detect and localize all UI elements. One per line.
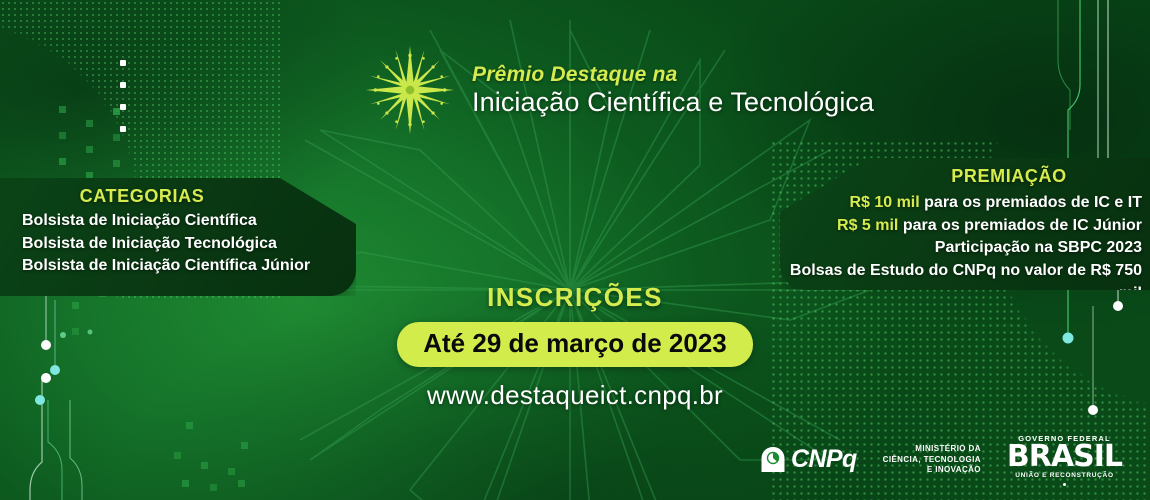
- ministry-line-3: E INOVAÇÃO: [883, 465, 981, 476]
- list-item: Bolsista de Iniciação Científica: [22, 210, 356, 233]
- award-description: para os premiados de IC Júnior: [898, 217, 1142, 234]
- deadline-badge: Até 29 de março de 2023: [397, 322, 753, 367]
- award-description: Participação na SBPC 2023: [935, 239, 1142, 256]
- award-amount: R$ 10 mil: [849, 194, 919, 211]
- website-url[interactable]: www.destaqueict.cnpq.br: [0, 380, 1150, 411]
- banner-header: Prêmio Destaque na Iniciação Científica …: [362, 42, 874, 138]
- list-item: R$ 5 mil para os premiados de IC Júnior: [780, 215, 1142, 238]
- list-item: Bolsista de Iniciação Tecnológica: [22, 233, 356, 256]
- government-logo: GOVERNO FEDERAL BRASIL UNIÃO E RECONSTRU…: [1007, 434, 1122, 486]
- cnpq-wordmark: CNPq: [791, 445, 857, 474]
- list-item: R$ 10 mil para os premiados de IC e IT: [780, 192, 1142, 215]
- footer-logos: CNPq MINISTÉRIO DA CIÊNCIA, TECNOLOGIA E…: [758, 434, 1122, 486]
- government-wordmark: BRASIL: [1007, 443, 1122, 471]
- cnpq-arch-icon: [758, 445, 788, 475]
- ministry-line-2: CIÊNCIA, TECNOLOGIA: [883, 455, 981, 466]
- header-titles: Prêmio Destaque na Iniciação Científica …: [472, 61, 874, 119]
- promo-banner: Prêmio Destaque na Iniciação Científica …: [0, 0, 1150, 500]
- government-slogan: UNIÃO E RECONSTRUÇÃO: [1007, 472, 1122, 479]
- government-dot-mark: [1063, 483, 1066, 486]
- cnpq-logo: CNPq: [758, 445, 857, 475]
- list-item: Participação na SBPC 2023: [780, 237, 1142, 260]
- star-burst-icon: [362, 42, 458, 138]
- categories-panel-title: CATEGORIAS: [0, 186, 356, 207]
- ministry-line-1: MINISTÉRIO DA: [883, 444, 981, 455]
- categories-panel: CATEGORIAS Bolsista de Iniciação Científ…: [0, 178, 356, 296]
- registration-label: INSCRIÇÕES: [0, 282, 1150, 313]
- categories-list: Bolsista de Iniciação Científica Bolsist…: [0, 207, 356, 278]
- award-subtitle: Prêmio Destaque na: [472, 63, 874, 87]
- ministry-logo: MINISTÉRIO DA CIÊNCIA, TECNOLOGIA E INOV…: [883, 444, 981, 476]
- list-item: Bolsista de Iniciação Científica Júnior: [22, 255, 356, 278]
- award-amount: R$ 5 mil: [837, 217, 898, 234]
- award-title: Iniciação Científica e Tecnológica: [472, 87, 874, 119]
- registration-cta: INSCRIÇÕES Até 29 de março de 2023 www.d…: [0, 282, 1150, 411]
- awards-panel: PREMIAÇÃO R$ 10 mil para os premiados de…: [780, 158, 1150, 290]
- award-description: para os premiados de IC e IT: [920, 194, 1142, 211]
- awards-panel-title: PREMIAÇÃO: [780, 166, 1150, 187]
